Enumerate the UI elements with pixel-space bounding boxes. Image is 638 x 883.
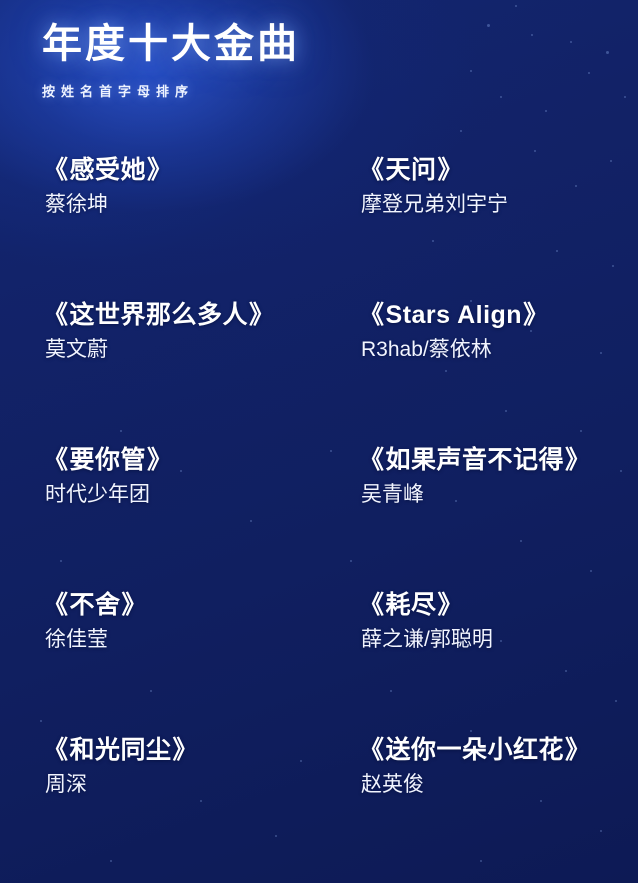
- song-title-text: Stars Align: [386, 301, 523, 329]
- song-title-text: 耗尽: [386, 591, 437, 619]
- song-entry[interactable]: 《Stars Align》R3hab/蔡依林: [358, 300, 630, 362]
- song-artist: 薛之谦/郭聪明: [361, 627, 630, 652]
- bracket-open-icon: 《: [42, 591, 70, 619]
- song-row: 《这世界那么多人》莫文蔚《Stars Align》R3hab/蔡依林: [0, 300, 638, 445]
- star-speck-icon: [531, 34, 533, 36]
- page-subtitle: 按姓名首字母排序: [42, 81, 462, 100]
- star-speck-icon: [515, 5, 517, 7]
- song-entry[interactable]: 《这世界那么多人》莫文蔚: [42, 300, 342, 362]
- bracket-close-icon: 》: [437, 591, 465, 619]
- bracket-close-icon: 》: [564, 736, 592, 764]
- song-title: 《和光同尘》: [42, 735, 342, 765]
- song-title-text: 如果声音不记得: [386, 446, 565, 474]
- bracket-open-icon: 《: [42, 736, 70, 764]
- song-title: 《感受她》: [42, 155, 342, 185]
- song-entry[interactable]: 《要你管》时代少年团: [42, 445, 342, 507]
- song-artist: R3hab/蔡依林: [361, 337, 630, 362]
- song-artist: 莫文蔚: [45, 337, 342, 362]
- star-speck-icon: [588, 72, 590, 74]
- poster-canvas: 年度十大金曲 按姓名首字母排序 《感受她》蔡徐坤《天问》摩登兄弟刘宇宁《这世界那…: [0, 0, 638, 883]
- star-speck-icon: [545, 110, 547, 112]
- song-title: 《要你管》: [42, 445, 342, 475]
- song-entry[interactable]: 《和光同尘》周深: [42, 735, 342, 797]
- bracket-close-icon: 》: [172, 736, 200, 764]
- song-artist: 周深: [45, 772, 342, 797]
- star-speck-icon: [487, 24, 490, 27]
- bracket-open-icon: 《: [358, 446, 386, 474]
- song-artist: 吴青峰: [361, 482, 630, 507]
- song-artist: 时代少年团: [45, 482, 342, 507]
- song-entry[interactable]: 《感受她》蔡徐坤: [42, 155, 342, 217]
- bracket-close-icon: 》: [437, 156, 465, 184]
- song-title: 《不舍》: [42, 590, 342, 620]
- song-entry[interactable]: 《天问》摩登兄弟刘宇宁: [358, 155, 630, 217]
- bracket-open-icon: 《: [358, 156, 386, 184]
- bracket-close-icon: 》: [248, 301, 276, 329]
- song-title-text: 天问: [386, 156, 437, 184]
- bracket-open-icon: 《: [42, 446, 70, 474]
- song-title-text: 感受她: [70, 156, 147, 184]
- song-artist: 徐佳莹: [45, 627, 342, 652]
- bracket-open-icon: 《: [358, 591, 386, 619]
- song-title: 《这世界那么多人》: [42, 300, 342, 330]
- song-title-text: 送你一朵小红花: [386, 736, 565, 764]
- page-title: 年度十大金曲: [42, 22, 462, 67]
- song-artist: 赵英俊: [361, 772, 630, 797]
- song-title-text: 要你管: [70, 446, 147, 474]
- star-speck-icon: [534, 150, 536, 152]
- star-speck-icon: [500, 96, 502, 98]
- star-speck-icon: [570, 41, 572, 43]
- poster-header: 年度十大金曲 按姓名首字母排序: [42, 22, 462, 100]
- bracket-close-icon: 》: [121, 591, 149, 619]
- bracket-close-icon: 》: [146, 446, 174, 474]
- song-entry[interactable]: 《不舍》徐佳莹: [42, 590, 342, 652]
- bracket-close-icon: 》: [564, 446, 592, 474]
- song-title: 《天问》: [358, 155, 630, 185]
- bracket-open-icon: 《: [42, 301, 70, 329]
- song-row: 《和光同尘》周深《送你一朵小红花》赵英俊: [0, 735, 638, 880]
- song-title-text: 这世界那么多人: [70, 301, 249, 329]
- bracket-close-icon: 》: [522, 301, 550, 329]
- song-title: 《送你一朵小红花》: [358, 735, 630, 765]
- star-speck-icon: [470, 70, 472, 72]
- bracket-close-icon: 》: [146, 156, 174, 184]
- song-row: 《感受她》蔡徐坤《天问》摩登兄弟刘宇宁: [0, 155, 638, 300]
- song-artist: 蔡徐坤: [45, 192, 342, 217]
- song-list: 《感受她》蔡徐坤《天问》摩登兄弟刘宇宁《这世界那么多人》莫文蔚《Stars Al…: [0, 155, 638, 880]
- song-row: 《不舍》徐佳莹《耗尽》薛之谦/郭聪明: [0, 590, 638, 735]
- song-title: 《Stars Align》: [358, 300, 630, 330]
- song-title: 《耗尽》: [358, 590, 630, 620]
- song-title: 《如果声音不记得》: [358, 445, 630, 475]
- song-title-text: 不舍: [70, 591, 121, 619]
- song-entry[interactable]: 《如果声音不记得》吴青峰: [358, 445, 630, 507]
- star-speck-icon: [460, 130, 462, 132]
- star-speck-icon: [624, 96, 626, 98]
- bracket-open-icon: 《: [42, 156, 70, 184]
- bracket-open-icon: 《: [358, 736, 386, 764]
- song-row: 《要你管》时代少年团《如果声音不记得》吴青峰: [0, 445, 638, 590]
- song-title-text: 和光同尘: [70, 736, 172, 764]
- song-entry[interactable]: 《耗尽》薛之谦/郭聪明: [358, 590, 630, 652]
- song-artist: 摩登兄弟刘宇宁: [361, 192, 630, 217]
- song-entry[interactable]: 《送你一朵小红花》赵英俊: [358, 735, 630, 797]
- bracket-open-icon: 《: [358, 301, 386, 329]
- star-speck-icon: [606, 51, 609, 54]
